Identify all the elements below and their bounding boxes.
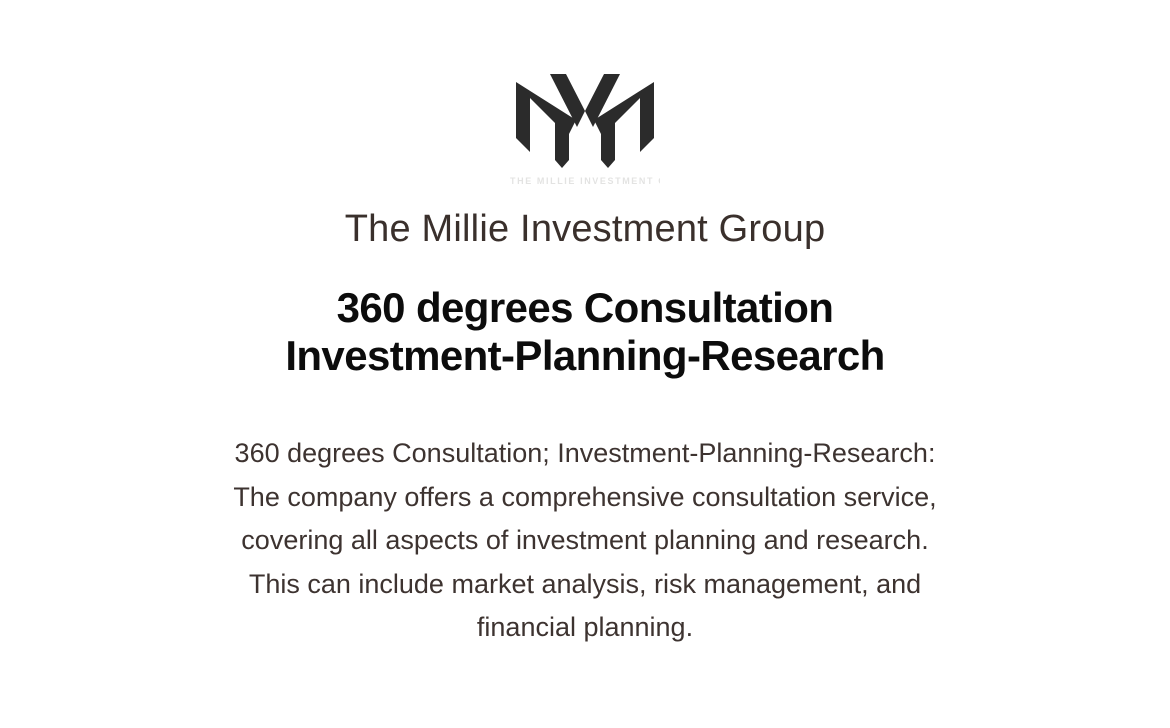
body-line-3: covering all aspects of investment plann… — [105, 519, 1065, 563]
body-line-2: The company offers a comprehensive consu… — [105, 476, 1065, 520]
page-title: 360 degrees Consultation Investment-Plan… — [85, 284, 1085, 380]
body-line-4: This can include market analysis, risk m… — [105, 563, 1065, 607]
headline-line-1: 360 degrees Consultation — [85, 284, 1085, 332]
company-name: The Millie Investment Group — [0, 206, 1170, 252]
brand-wordmark-faded: THE MILLIE INVESTMENT GROUP — [510, 174, 660, 188]
millie-m-monogram-icon — [510, 62, 660, 174]
body-line-1: 360 degrees Consultation; Investment-Pla… — [105, 432, 1065, 476]
brand-logo-block: THE MILLIE INVESTMENT GROUP — [510, 62, 660, 188]
headline-line-2: Investment-Planning-Research — [85, 332, 1085, 380]
body-paragraph: 360 degrees Consultation; Investment-Pla… — [105, 432, 1065, 650]
body-line-5: financial planning. — [105, 606, 1065, 650]
slide-root: THE MILLIE INVESTMENT GROUP The Millie I… — [0, 0, 1170, 728]
